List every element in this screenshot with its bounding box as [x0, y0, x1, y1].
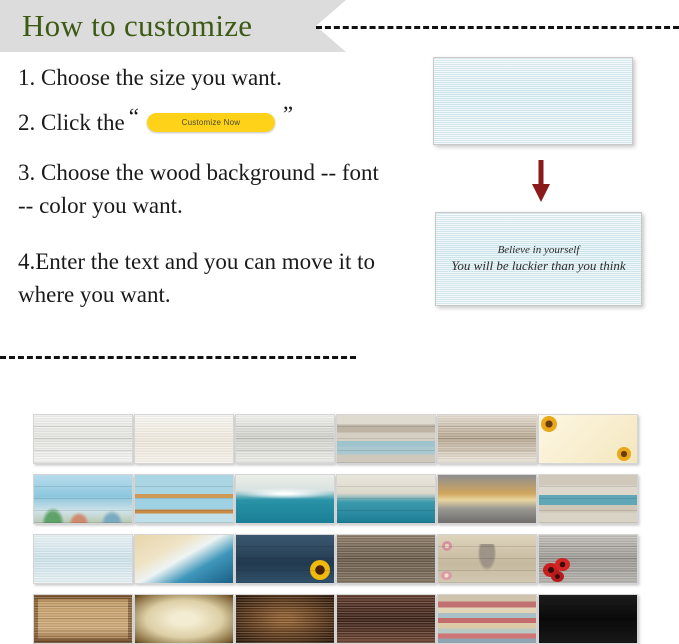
- down-arrow-icon: [531, 160, 551, 202]
- swatch-teal-ocean-planks[interactable]: [336, 474, 436, 524]
- swatch-sepia-parchment-vignette[interactable]: [134, 594, 234, 644]
- background-options-banner: 24 Background Options: [348, 330, 679, 384]
- swatch-navy-wood-with-sunflower[interactable]: [235, 534, 335, 584]
- swatch-dark-red-brown-planks[interactable]: [336, 594, 436, 644]
- swatch-underwater-coral-reef[interactable]: [33, 474, 133, 524]
- swatch-grey-wood-red-poppies[interactable]: [538, 534, 638, 584]
- customize-now-button[interactable]: Customize Now: [147, 113, 275, 132]
- sunflower-icon: [617, 447, 631, 461]
- instruction-step-1: 1. Choose the size you want.: [18, 66, 408, 89]
- swatch-distressed-blue-orange-wood[interactable]: [134, 474, 234, 524]
- sign-text-line-2: You will be luckier than you think: [451, 258, 625, 274]
- swatch-distressed-white-grey-wood[interactable]: [235, 414, 335, 464]
- swatch-golden-sunset-seascape[interactable]: [437, 474, 537, 524]
- flower-icon: [441, 571, 452, 580]
- swatch-dark-brown-barnwood[interactable]: [336, 534, 436, 584]
- swatch-cream-white-wood[interactable]: [134, 414, 234, 464]
- instruction-step-2: 2. Click the “ Customize Now ”: [18, 111, 408, 134]
- swatch-pale-blue-wood[interactable]: [33, 534, 133, 584]
- text-sign-preview: Believe in yourself You will be luckier …: [435, 212, 642, 306]
- swatch-multicolor-brick-planks-blue[interactable]: [336, 414, 436, 464]
- dashed-connector-top: [316, 26, 679, 29]
- flower-icon: [442, 541, 452, 551]
- swatch-white-washed-planks[interactable]: [33, 414, 133, 464]
- swatch-cream-sunflower-corners[interactable]: [538, 414, 638, 464]
- instruction-step-2-prefix: 2. Click the: [18, 111, 125, 134]
- background-swatch-grid: [33, 414, 649, 642]
- instruction-step-4: 4.Enter the text and you can move it to …: [18, 245, 388, 312]
- swatch-black-chalkboard-wood[interactable]: [538, 594, 638, 644]
- poppy-icon: [551, 571, 564, 582]
- dashed-connector-bottom: [0, 356, 356, 359]
- sign-text-line-1: Believe in yourself: [498, 244, 580, 256]
- swatch-teal-white-abstract-splash[interactable]: [235, 474, 335, 524]
- poppy-icon: [555, 558, 570, 571]
- page-root: How to customize 1. Choose the size you …: [0, 0, 679, 642]
- swatch-weathered-beige-brown-wood[interactable]: [437, 414, 537, 464]
- background-options-title: 24 Background Options: [378, 341, 652, 373]
- how-to-customize-banner: How to customize: [0, 0, 346, 52]
- sunflower-icon: [310, 560, 330, 580]
- sunflower-icon: [541, 416, 557, 432]
- swatch-blue-grey-weathered-planks[interactable]: [538, 474, 638, 524]
- swatch-beach-shore-aerial[interactable]: [134, 534, 234, 584]
- quote-open: “: [129, 105, 139, 128]
- instruction-list: 1. Choose the size you want. 2. Click th…: [18, 66, 408, 333]
- page-title: How to customize: [22, 8, 252, 44]
- swatch-pastel-striped-planks[interactable]: [437, 594, 537, 644]
- quote-close: ”: [283, 103, 293, 126]
- swatch-buddha-zen-scene[interactable]: [437, 534, 537, 584]
- swatch-light-oak-planks[interactable]: [33, 594, 133, 644]
- blank-sign-preview: [433, 57, 633, 145]
- instruction-step-3: 3. Choose the wood background -- font --…: [18, 156, 388, 223]
- swatch-dark-brown-grunge-wood[interactable]: [235, 594, 335, 644]
